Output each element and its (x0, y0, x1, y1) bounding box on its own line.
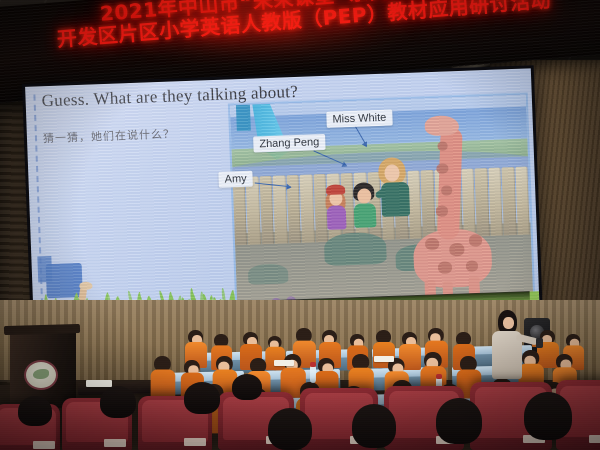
worksheet-paper (274, 360, 294, 366)
callout-zhang-peng: Zhang Peng (253, 134, 325, 153)
audience-member-head (184, 382, 220, 414)
audience-member-head (18, 396, 52, 426)
seat-number-plate (104, 439, 126, 447)
fence-plank (488, 168, 503, 236)
school-crest (24, 360, 58, 390)
audience-member-head (268, 408, 312, 450)
audience-member-head (232, 374, 262, 400)
fence-plank (501, 167, 516, 235)
slide-subtitle: 猜一猜，她们在说什么？ (43, 125, 175, 146)
zoo-bush-1 (323, 232, 386, 266)
fence-plank (259, 176, 274, 244)
seat-number-plate (184, 438, 206, 446)
seat-number-plate (33, 441, 55, 449)
callout-miss-white: Miss White (326, 109, 392, 127)
fence-plank (461, 169, 476, 237)
fence-plank (421, 170, 436, 238)
callout-amy: Amy (218, 171, 253, 188)
water-bottle (310, 366, 316, 383)
student-uniform (265, 347, 285, 370)
mascot-block-2 (37, 256, 52, 282)
presentation-slide: Guess. What are they talking about? 猜一猜，… (25, 68, 539, 318)
projection-screen: Guess. What are they talking about? 猜一猜，… (22, 65, 542, 322)
microphone (536, 338, 543, 348)
fence-plank (515, 167, 530, 235)
audience-member-head (436, 398, 482, 444)
audience-member-head (100, 386, 136, 418)
audience-member-head (352, 404, 396, 448)
fence-plank (475, 168, 490, 236)
audience-member-head (524, 392, 572, 440)
worksheet-paper (374, 356, 394, 362)
screenshot-root: 2021年中山市“未来课堂”系列片区教研活动之 开发区片区小学英语人教版（PEP… (0, 0, 600, 450)
teacher-face (503, 317, 514, 329)
seat-number-plate (589, 435, 600, 443)
worksheet-paper (86, 380, 112, 387)
fence-plank (300, 174, 315, 242)
student-uniform (151, 369, 176, 398)
